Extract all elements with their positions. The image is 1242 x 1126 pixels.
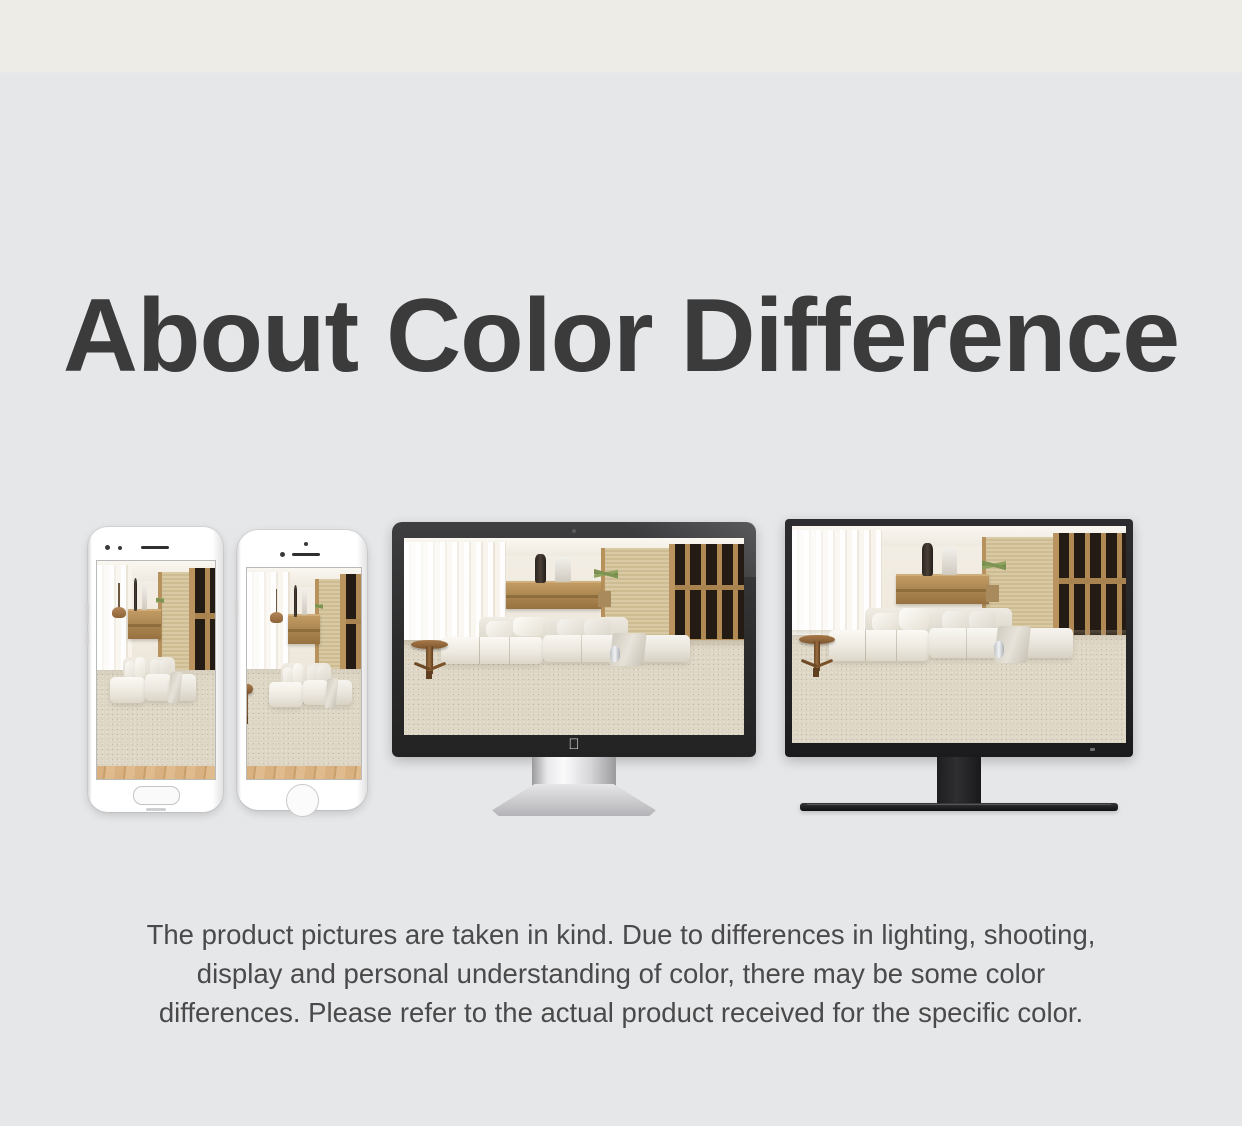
- device-phone-android: [88, 527, 223, 812]
- device-phone-iphone: [237, 530, 367, 810]
- display-screen: [404, 538, 744, 735]
- proximity-sensor-icon: [304, 542, 308, 546]
- screen-scene: [247, 568, 361, 779]
- front-camera-icon: [105, 545, 110, 550]
- monitor-screen: [792, 526, 1126, 743]
- color-difference-disclaimer: The product pictures are taken in kind. …: [40, 915, 1202, 1032]
- page-title: About Color Difference: [0, 282, 1242, 391]
- home-button[interactable]: [286, 784, 319, 817]
- display-stand-foot: [492, 784, 656, 816]
- monitor-stand-neck: [937, 757, 981, 807]
- phone-volume-button: [86, 632, 89, 646]
- device-black-monitor: [785, 519, 1133, 815]
- phone-volume-button: [235, 600, 238, 618]
- webcam-icon: [572, 529, 576, 533]
- phone-screen: [96, 560, 216, 780]
- disclaimer-line-3: differences. Please refer to the actual …: [40, 993, 1202, 1032]
- power-led-icon: [1090, 748, 1095, 751]
- top-band-edge: [0, 72, 1242, 75]
- disclaimer-line-2: display and personal understanding of co…: [40, 954, 1202, 993]
- earpiece-speaker-icon: [292, 553, 320, 556]
- phone-screen: [246, 567, 362, 780]
- monitor-base-highlight: [807, 804, 1111, 805]
- screen-scene: [792, 526, 1126, 743]
- screen-scene: [404, 538, 744, 735]
- charging-port-icon: [146, 808, 166, 811]
- phone-power-button: [86, 602, 89, 624]
- top-band: [0, 0, 1242, 72]
- screen-scene: [97, 561, 215, 779]
- device-showcase: : [0, 505, 1242, 825]
- proximity-sensor-icon: [118, 546, 122, 550]
- page-root: About Color Difference: [0, 0, 1242, 1126]
- home-button[interactable]: [133, 786, 180, 805]
- disclaimer-line-1: The product pictures are taken in kind. …: [40, 915, 1202, 954]
- earpiece-speaker-icon: [141, 546, 169, 549]
- front-camera-icon: [280, 552, 285, 557]
- apple-logo-icon: : [562, 737, 586, 752]
- device-apple-display: : [392, 522, 756, 816]
